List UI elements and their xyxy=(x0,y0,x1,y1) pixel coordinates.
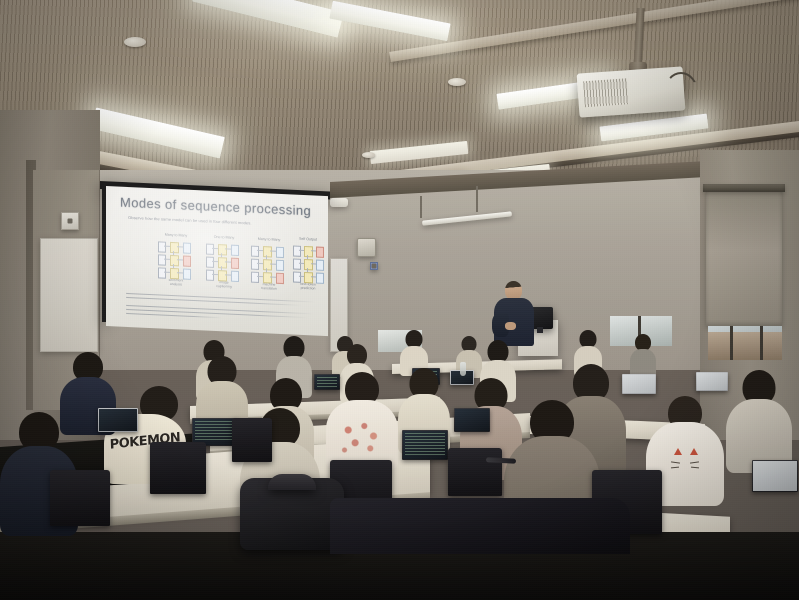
backpack-strap xyxy=(268,474,316,490)
diagram-column-1: Many to Many sentiment analysis xyxy=(154,232,198,292)
recurrent-connector xyxy=(173,264,174,268)
cat-whisker xyxy=(691,467,699,469)
input-cell xyxy=(206,244,214,255)
laptop[interactable] xyxy=(696,372,728,391)
smoke-detector-icon xyxy=(362,152,375,158)
input-cell xyxy=(251,272,259,283)
output-cell xyxy=(276,247,284,258)
diagram-caption: sentiment analysis xyxy=(154,278,198,288)
smoke-detector-icon xyxy=(124,37,146,47)
hidden-cell xyxy=(263,259,272,270)
wall-speaker xyxy=(357,238,376,257)
presenter-hand xyxy=(505,322,516,330)
slide-body-line xyxy=(126,297,302,306)
chair[interactable] xyxy=(150,442,206,494)
cat-whisker xyxy=(690,461,699,463)
recurrent-connector xyxy=(266,255,267,259)
window-mullion xyxy=(730,326,733,360)
chair[interactable] xyxy=(232,418,272,462)
window-exterior-view xyxy=(708,332,782,360)
laptop[interactable] xyxy=(454,408,490,432)
wall-control-panel xyxy=(61,212,79,230)
recurrent-connector xyxy=(221,253,222,257)
laptop-screen xyxy=(623,375,655,393)
air-conditioner xyxy=(330,198,348,207)
laptop-screen xyxy=(753,461,797,491)
diagram-heading: Many to Many xyxy=(154,232,198,238)
input-cell xyxy=(251,259,259,270)
output-cell xyxy=(183,242,191,253)
recurrent-connector xyxy=(266,268,267,272)
smoke-detector-icon xyxy=(448,78,466,86)
output-cell xyxy=(231,245,239,256)
laptop-screen xyxy=(403,431,447,459)
diagram-heading: One to Many xyxy=(202,234,246,240)
input-cell xyxy=(206,270,214,281)
laptop[interactable] xyxy=(622,374,656,394)
window-roller-blind xyxy=(706,190,782,326)
input-cell xyxy=(293,258,301,269)
shirt-floral-pattern xyxy=(339,418,385,458)
laptop-code-text xyxy=(405,433,445,455)
slide-body-line xyxy=(126,313,222,319)
diagram-heading: Self Output xyxy=(289,236,327,242)
hidden-cell xyxy=(263,246,272,257)
diagram-caption: image captioning xyxy=(202,280,246,290)
caption-line-2: translation xyxy=(261,286,277,291)
output-cell xyxy=(276,260,284,271)
laptop-screen xyxy=(455,409,489,431)
cat-ear-icon xyxy=(690,448,698,455)
diagram-column-2: One to Many image captioning xyxy=(202,234,246,294)
student xyxy=(726,370,792,470)
diagram-column-4: Self Output next-token prediction xyxy=(291,236,327,296)
output-cell-red xyxy=(231,258,239,269)
output-cell-red xyxy=(276,273,284,284)
input-cell xyxy=(206,257,214,268)
input-cell xyxy=(158,241,166,252)
shirt-cat-graphic xyxy=(670,448,700,474)
pendant-rod xyxy=(420,196,422,218)
output-cell xyxy=(316,273,324,284)
recurrent-connector xyxy=(307,255,308,259)
pendant-rod xyxy=(476,186,478,212)
hidden-cell xyxy=(304,246,313,257)
input-cell xyxy=(158,254,166,265)
slide-subtitle: Observe how the same model can be used i… xyxy=(128,215,252,225)
hidden-cell xyxy=(304,259,313,270)
laptop[interactable] xyxy=(402,430,448,460)
window-mullion xyxy=(760,326,763,360)
foreground-dark-object xyxy=(330,498,630,554)
recurrent-connector xyxy=(307,268,308,272)
output-cell xyxy=(316,260,324,271)
laptop-screen xyxy=(99,409,137,431)
water-bottle[interactable] xyxy=(460,362,466,376)
window xyxy=(708,326,782,360)
monitor-stand xyxy=(537,327,543,333)
laptop-screen xyxy=(697,373,727,390)
input-cell xyxy=(251,246,259,257)
student-floral-shirt xyxy=(326,372,398,468)
input-cell xyxy=(293,245,301,256)
projector-vent xyxy=(583,78,629,107)
diagram-column-3: Many to Many machine translation xyxy=(248,236,290,296)
cat-whisker xyxy=(671,467,679,469)
output-cell xyxy=(183,268,191,279)
output-cell xyxy=(231,271,239,282)
wall-whiteboard-left xyxy=(40,238,98,352)
projector xyxy=(577,66,686,117)
cat-whisker xyxy=(671,461,680,463)
chair[interactable] xyxy=(448,448,502,496)
diagram-caption: machine translation xyxy=(248,282,290,292)
laptop[interactable] xyxy=(752,460,798,492)
recurrent-connector xyxy=(221,266,222,270)
input-cell xyxy=(158,267,166,278)
caption-line-2: captioning xyxy=(216,284,231,289)
hidden-cell xyxy=(170,255,179,266)
recurrent-connector xyxy=(173,251,174,255)
wall-sign xyxy=(370,262,378,270)
output-cell-red xyxy=(316,247,324,258)
slide-title: Modes of sequence processing xyxy=(120,195,311,219)
projection-screen: Modes of sequence processing Observe how… xyxy=(106,186,328,336)
laptop[interactable] xyxy=(98,408,138,432)
hidden-cell xyxy=(218,244,227,255)
caption-line-2: prediction xyxy=(301,286,316,291)
output-cell-red xyxy=(183,255,191,266)
laptop-code-text xyxy=(195,421,235,441)
diagram-caption: next-token prediction xyxy=(289,282,327,292)
window-blind-headrail xyxy=(703,184,785,192)
chair[interactable] xyxy=(50,470,110,526)
student xyxy=(630,334,656,376)
cat-ear-icon xyxy=(674,448,682,455)
caption-line-2: analysis xyxy=(170,282,182,287)
hidden-cell xyxy=(170,242,179,253)
lecture-hall-photo: Modes of sequence processing Observe how… xyxy=(0,0,799,600)
hidden-cell xyxy=(218,257,227,268)
diagram-heading: Many to Many xyxy=(248,236,290,242)
